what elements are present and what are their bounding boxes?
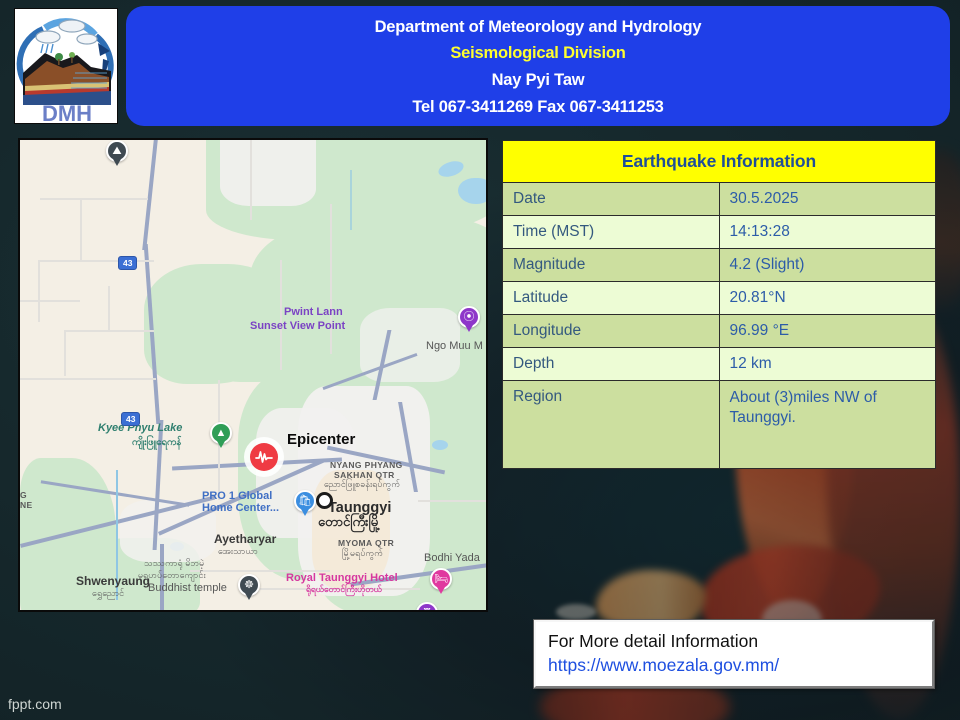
- road-shield-43-north: 43: [118, 256, 137, 270]
- map-label-pro1-global-line2: Home Center...: [202, 502, 279, 514]
- map-label-pwint-lann: Pwint Lann: [284, 306, 343, 318]
- row-label-latitude: Latitude: [503, 282, 720, 315]
- road-shield-43-south: 43: [121, 412, 140, 426]
- map-canvas: Pwint Lann Sunset View Point Ngo Muu M K…: [20, 140, 486, 610]
- header-banner: Department of Meteorology and Hydrology …: [126, 6, 950, 126]
- map-label-ayetharyar-burmese: အေးသာယာ: [218, 546, 258, 559]
- map-pin-pro1-global-home-center[interactable]: 🛍: [294, 490, 316, 512]
- map-pin-buddhist-temple[interactable]: ☸: [238, 574, 260, 596]
- map-label-sunset-view: Sunset View Point: [250, 320, 345, 332]
- map-label-ngo-muu: Ngo Muu M: [426, 340, 483, 352]
- header-contact: Tel 067-3411269 Fax 067-3411253: [412, 94, 663, 121]
- epicenter-marker[interactable]: [250, 443, 278, 471]
- row-value-date: 30.5.2025: [719, 183, 936, 216]
- row-value-magnitude: 4.2 (Slight): [719, 249, 936, 282]
- epicenter-label: Epicenter: [287, 431, 355, 448]
- map-label-myoma-qtr-burmese: မြို့မရပ်ကွက်: [342, 548, 383, 561]
- table-row-time: Time (MST) 14:13:28: [503, 216, 936, 249]
- table-row-depth: Depth 12 km: [503, 348, 936, 381]
- row-value-latitude: 20.81°N: [719, 282, 936, 315]
- map-pin-viewpoint-top[interactable]: ⛰: [106, 140, 128, 162]
- map-label-buddhist-temple: Buddhist temple: [148, 582, 227, 594]
- monument-icon: ♜: [422, 608, 432, 613]
- row-value-longitude: 96.99 °E: [719, 315, 936, 348]
- map-label-ayetharyar: Ayetharyar: [214, 532, 276, 546]
- map-label-taunggyi-burmese: တောင်ကြီးမြို့: [318, 514, 380, 533]
- header-city: Nay Pyi Taw: [492, 67, 585, 94]
- map-label-gne-line1: G: [20, 490, 27, 500]
- map-label-kyee-phyu-lake: Kyee Phyu Lake: [98, 422, 182, 434]
- epicenter-map[interactable]: Pwint Lann Sunset View Point Ngo Muu M K…: [18, 138, 488, 612]
- row-label-region: Region: [503, 381, 720, 469]
- table-row-latitude: Latitude 20.81°N: [503, 282, 936, 315]
- seismograph-pulse-icon: [254, 447, 274, 467]
- watermark: fppt.com: [8, 696, 62, 712]
- map-label-royal-hotel-burmese: ရိုရယ်တောင်ကြီးဟိုတယ်: [306, 584, 382, 597]
- more-info-link[interactable]: https://www.moezala.gov.mm/: [548, 654, 920, 678]
- map-label-myoma-qtr: MYOMA QTR: [338, 538, 394, 548]
- map-label-nyang-phyang-burmese: ညောင်ဖြူစခန်းရပ်ကွက်: [324, 479, 400, 492]
- earthquake-information-table: Earthquake Information Date 30.5.2025 Ti…: [502, 140, 936, 469]
- mountain-icon: ⛰: [112, 146, 121, 157]
- table-row-date: Date 30.5.2025: [503, 183, 936, 216]
- header-division-name: Seismological Division: [450, 40, 625, 67]
- row-label-longitude: Longitude: [503, 315, 720, 348]
- hydrological-cycle-icon: DMH: [15, 9, 118, 124]
- row-value-time: 14:13:28: [719, 216, 936, 249]
- map-label-pro1-global-line1: PRO 1 Global: [202, 490, 272, 502]
- more-info-text: For More detail Information: [548, 630, 920, 654]
- table-row-region: Region About (3)miles NW of Taunggyi.: [503, 381, 936, 469]
- header-department-name: Department of Meteorology and Hydrology: [375, 14, 702, 41]
- row-label-depth: Depth: [503, 348, 720, 381]
- map-label-royal-taunggyi-hotel: Royal Taunggyi Hotel: [286, 572, 398, 584]
- map-city-marker-taunggyi: [316, 492, 333, 509]
- map-label-bodhi-yada: Bodhi Yada: [424, 552, 480, 564]
- map-pin-pwint-lann-viewpoint[interactable]: ⦿: [458, 306, 480, 328]
- row-label-date: Date: [503, 183, 720, 216]
- logo-text: DMH: [42, 101, 92, 124]
- map-label-kyee-phyu-lake-burmese: ကျိုးဖြူရေကန်: [132, 436, 181, 450]
- table-row-magnitude: Magnitude 4.2 (Slight): [503, 249, 936, 282]
- more-information-box[interactable]: For More detail Information https://www.…: [534, 620, 934, 688]
- map-label-shwenyaung-burmese: ရွှေညောင်: [92, 588, 124, 601]
- row-label-magnitude: Magnitude: [503, 249, 720, 282]
- map-pin-park[interactable]: ▲: [210, 422, 232, 444]
- tree-icon: ▲: [216, 428, 227, 439]
- camera-icon: ⦿: [464, 312, 475, 323]
- table-row-longitude: Longitude 96.99 °E: [503, 315, 936, 348]
- store-icon: 🛍: [298, 496, 312, 507]
- map-label-gne-line2: NE: [20, 500, 33, 510]
- table-title: Earthquake Information: [503, 141, 936, 183]
- row-label-time: Time (MST): [503, 216, 720, 249]
- bed-icon: 🛏: [434, 574, 448, 585]
- row-value-depth: 12 km: [719, 348, 936, 381]
- table-header-row: Earthquake Information: [503, 141, 936, 183]
- row-value-region: About (3)miles NW of Taunggyi.: [719, 381, 936, 469]
- map-pin-royal-taunggyi-hotel[interactable]: 🛏: [430, 568, 452, 590]
- dharma-wheel-icon: ☸: [244, 580, 254, 591]
- map-label-nyang-phyang-line1: NYANG PHYANG: [330, 460, 403, 470]
- dmh-logo: DMH: [14, 8, 118, 124]
